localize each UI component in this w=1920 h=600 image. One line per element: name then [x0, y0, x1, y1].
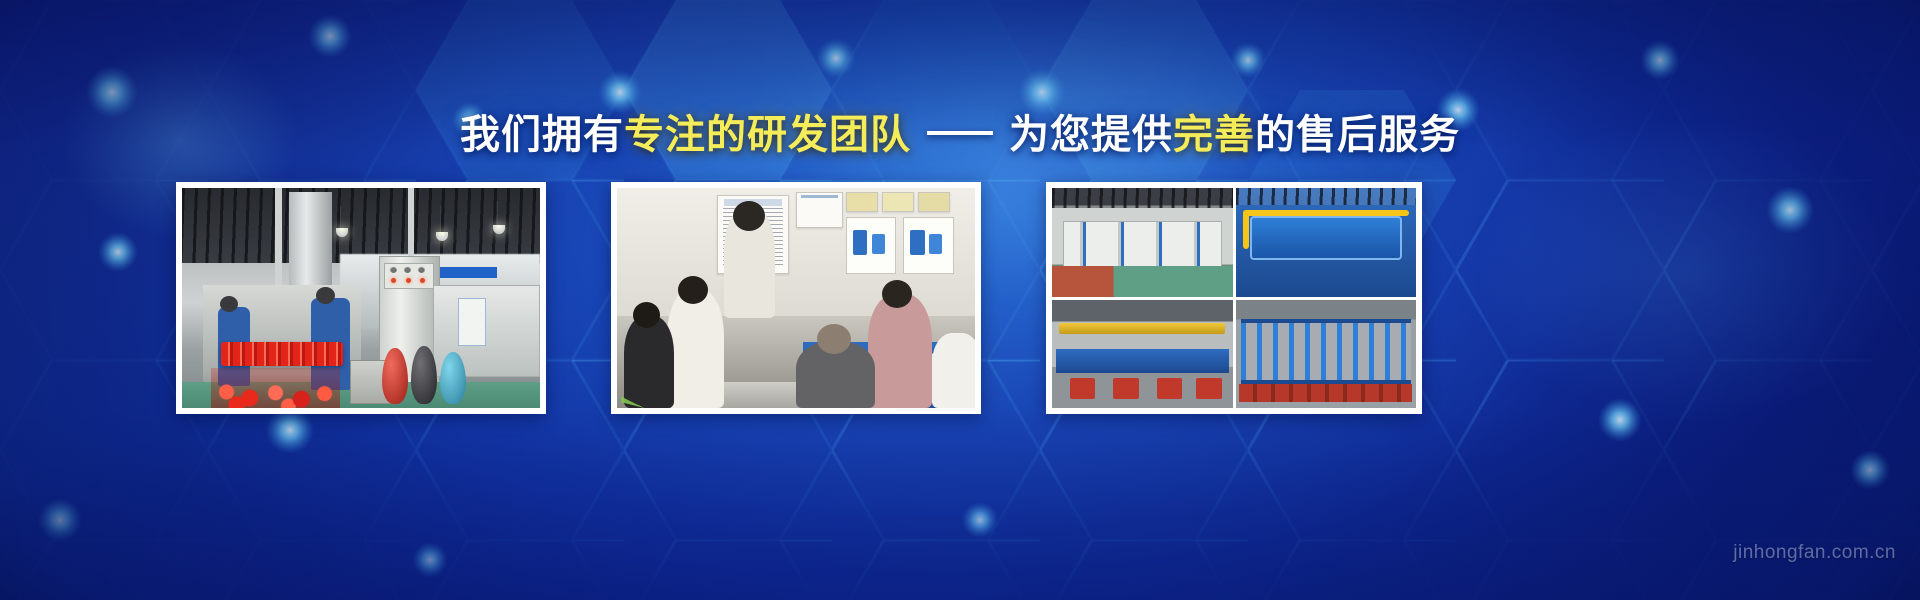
- headline-separator-dash: [927, 131, 993, 135]
- promo-banner: 我们拥有专注的研发团队为您提供完善的售后服务: [0, 0, 1920, 600]
- headline-highlight-2: 完善: [1173, 113, 1255, 157]
- headline-part-1: 我们拥有: [460, 113, 624, 157]
- collage-cell-blue-tank: [1236, 188, 1417, 297]
- headline-highlight-1: 专注的研发团队: [624, 113, 911, 157]
- headline-part-3: 的售后服务: [1255, 113, 1460, 157]
- banner-headline: 我们拥有专注的研发团队为您提供完善的售后服务: [0, 109, 1920, 161]
- photo-panel-group: [0, 182, 1920, 414]
- photo-factory-collage: [1052, 188, 1416, 408]
- collage-cell-warehouse: [1052, 188, 1233, 297]
- collage-cell-conveyor: [1052, 300, 1233, 409]
- site-watermark: jinhongfan.com.cn: [1733, 542, 1896, 564]
- photo-panel-production-line[interactable]: [176, 182, 546, 414]
- headline-part-2: 为您提供: [1009, 113, 1173, 157]
- photo-panel-factory-collage[interactable]: [1046, 182, 1422, 414]
- photo-production-line: [182, 188, 540, 408]
- bottom-shade-overlay: [0, 410, 1920, 600]
- collage-cell-racking: [1236, 300, 1417, 409]
- photo-rd-meeting: [617, 188, 975, 408]
- photo-panel-rd-meeting[interactable]: [611, 182, 981, 414]
